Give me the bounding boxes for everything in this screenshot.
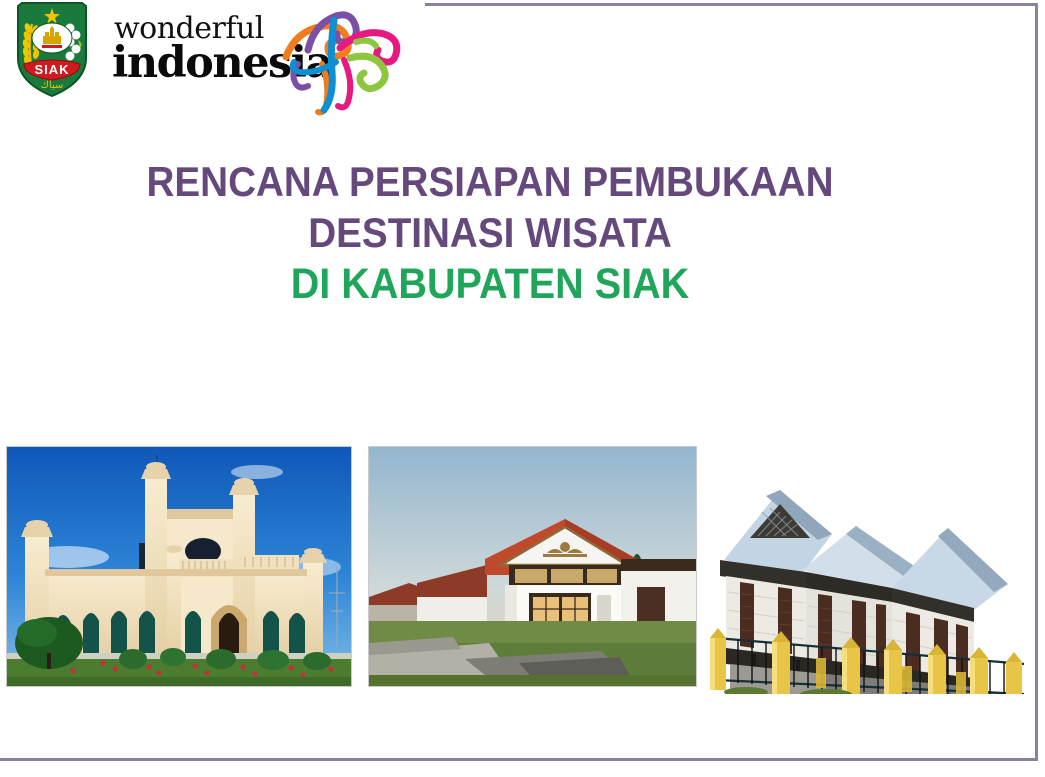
photo-colonial-villa [368, 446, 697, 687]
photo-strip [0, 440, 1045, 700]
svg-text:SIAK: SIAK [34, 62, 69, 77]
title-line-2: DESTINASI WISATA [94, 207, 885, 258]
title-line-1: RENCANA PERSIAPAN PEMBUKAAN [94, 156, 885, 207]
siak-regency-emblem-icon: SIAK سياك [14, 2, 90, 98]
presentation-slide: SIAK سياك wonderful indonesia [0, 0, 1045, 777]
svg-text:سياك: سياك [41, 80, 64, 91]
wonderful-indonesia-logo: wonderful indonesia [108, 8, 398, 108]
slide-title: RENCANA PERSIAPAN PEMBUKAAN DESTINASI WI… [60, 156, 920, 311]
title-line-3: DI KABUPATEN SIAK [94, 258, 885, 310]
photo-siak-palace [6, 446, 352, 687]
slide-border-top [425, 3, 1038, 6]
slide-border-bottom [0, 758, 1038, 761]
wonderful-indonesia-swirl-icon [278, 2, 408, 117]
photo-malay-stilt-house [706, 442, 1026, 694]
header-logos: SIAK سياك wonderful indonesia [0, 0, 400, 115]
